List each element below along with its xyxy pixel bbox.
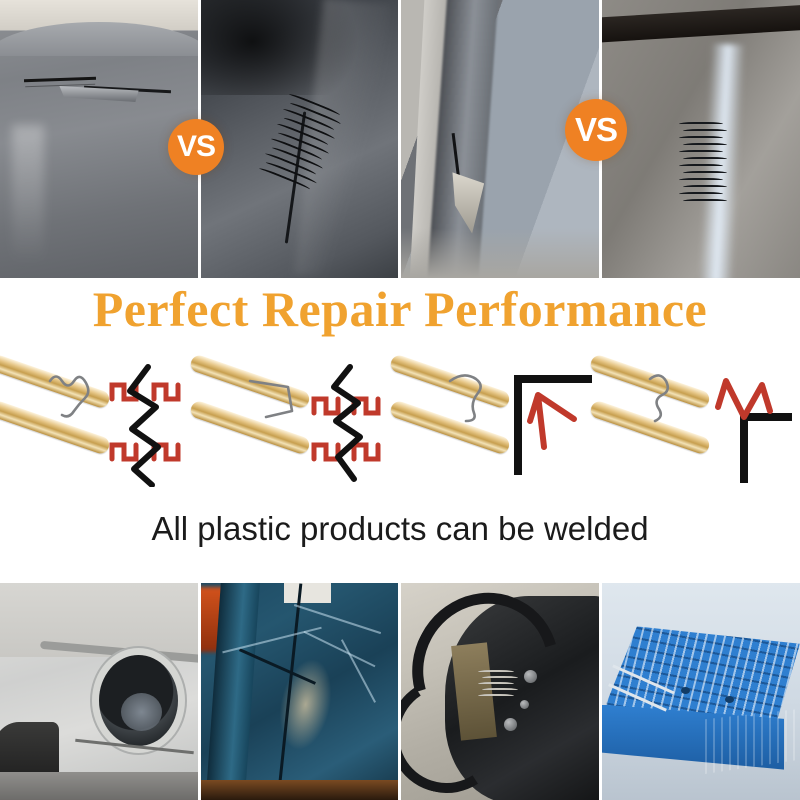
staple bbox=[478, 670, 514, 675]
product-item-outside-corner-staple bbox=[600, 355, 800, 495]
surface-gloss bbox=[12, 125, 44, 264]
bolt bbox=[520, 700, 529, 709]
application-photo-blue-pallet bbox=[602, 583, 800, 800]
application-photo-teal-panel bbox=[201, 583, 398, 800]
fog-lamp-opening bbox=[99, 655, 178, 746]
ground bbox=[0, 772, 198, 800]
vs-badge-2: VS bbox=[565, 99, 627, 161]
staple bbox=[478, 694, 514, 699]
deck-nub bbox=[725, 696, 734, 703]
outside-corner-pattern-diagram bbox=[704, 363, 792, 487]
staple bbox=[679, 122, 723, 128]
staple bbox=[679, 192, 723, 198]
pallet-front-side bbox=[705, 709, 800, 774]
staple bbox=[683, 143, 727, 149]
wave-staple-pattern-diagram bbox=[104, 363, 192, 487]
bolt bbox=[504, 718, 517, 731]
staple-row bbox=[480, 670, 516, 705]
product-item-flat-staple bbox=[200, 355, 400, 495]
application-photo-white-bumper bbox=[0, 583, 198, 800]
staple bbox=[683, 157, 727, 163]
bolt bbox=[524, 670, 537, 683]
staple bbox=[683, 171, 727, 177]
product-item-wave-staple bbox=[0, 355, 200, 495]
lower-shadow bbox=[401, 228, 599, 278]
application-photo-row bbox=[0, 583, 800, 800]
staple bbox=[482, 688, 518, 693]
page-title: Perfect Repair Performance bbox=[0, 280, 800, 338]
inside-corner-pattern-diagram bbox=[504, 363, 592, 487]
staple bbox=[679, 136, 723, 142]
staple bbox=[679, 150, 723, 156]
product-marketing-image: VS VS Perfect Repair Performance bbox=[0, 0, 800, 800]
application-photo-scooter-part bbox=[401, 583, 599, 800]
staple bbox=[478, 682, 514, 687]
square-staple-pattern-diagram bbox=[304, 363, 392, 487]
staple bbox=[683, 129, 727, 135]
comparison-photo-row bbox=[0, 0, 800, 278]
product-item-corner-staple bbox=[400, 355, 600, 495]
staple bbox=[679, 178, 723, 184]
staple bbox=[482, 676, 518, 681]
white-highlight-patch bbox=[284, 583, 331, 603]
comparison-2-after-photo bbox=[602, 0, 800, 278]
staple bbox=[683, 199, 727, 205]
dark-trim-bar bbox=[602, 4, 800, 43]
staple-row bbox=[681, 122, 725, 217]
title-band: Perfect Repair Performance bbox=[0, 278, 800, 350]
scratch-highlight bbox=[341, 639, 376, 703]
product-strip bbox=[0, 355, 800, 495]
comparison-1-after-photo bbox=[201, 0, 398, 278]
staple bbox=[683, 185, 727, 191]
lower-edge bbox=[201, 780, 398, 800]
staple bbox=[679, 164, 723, 170]
vs-badge-1: VS bbox=[168, 119, 224, 175]
subtitle-text: All plastic products can be welded bbox=[0, 510, 800, 548]
subtitle-band: All plastic products can be welded bbox=[0, 498, 800, 583]
